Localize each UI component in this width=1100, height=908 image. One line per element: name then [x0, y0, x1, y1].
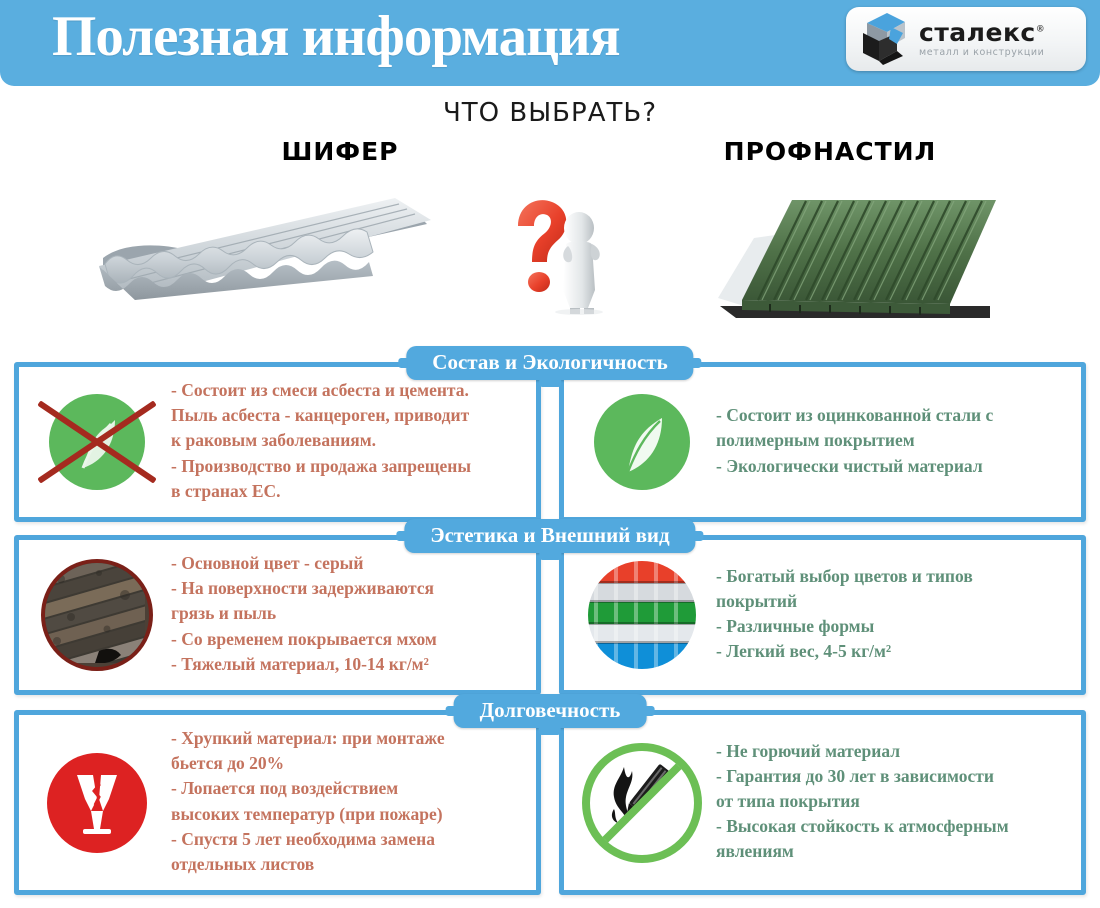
- section-title-text: Долговечность: [480, 698, 621, 722]
- section-aesthetics-appearance: Эстетика и Внешний вид: [14, 535, 1086, 695]
- card-text-profiled-composition: - Состоит из оцинкованной стали с полиме…: [710, 404, 1071, 479]
- green-profiled-metal-sheet-image: [700, 180, 1000, 325]
- bullet-line: полимерным покрытием: [716, 429, 1071, 452]
- card-profiled-aesthetics: - Богатый выбор цветов и типов покрытий …: [559, 535, 1086, 695]
- card-text-profiled-aesthetics: - Богатый выбор цветов и типов покрытий …: [710, 565, 1071, 665]
- product-label-slate: ШИФЕР: [160, 137, 520, 166]
- bullet-line: - Основной цвет - серый: [171, 552, 526, 575]
- card-profiled-durability: - Не горючий материал - Гарантия до 30 л…: [559, 710, 1086, 895]
- bullet-line: - Производство и продажа запрещены: [171, 455, 526, 478]
- card-slate-aesthetics: - Основной цвет - серый - На поверхности…: [14, 535, 541, 695]
- bullet-line: грязь и пыль: [171, 602, 526, 625]
- subtitle-question: ЧТО ВЫБРАТЬ?: [0, 98, 1100, 128]
- section-title-composition-ecology: Состав и Экологичность: [406, 346, 693, 380]
- bullet-line: - Тяжелый материал, 10-14 кг/м²: [171, 653, 526, 676]
- bullet-line: отдельных листов: [171, 853, 526, 876]
- bullet-line: - Высокая стойкость к атмосферным: [716, 815, 1071, 838]
- bullet-line: к раковым заболеваниям.: [171, 429, 526, 452]
- product-label-profiled-sheet: ПРОФНАСТИЛ: [600, 137, 1060, 166]
- bullet-line: - Гарантия до 30 лет в зависимости: [716, 765, 1071, 788]
- logo-tagline: металл и конструкции: [919, 48, 1045, 58]
- colored-roof-tiles-photo-icon: [574, 561, 710, 669]
- bullet-line: - Хрупкий материал: при монтаже: [171, 727, 526, 750]
- bullet-line: бьется до 20%: [171, 752, 526, 775]
- bullet-line: явлениям: [716, 840, 1071, 863]
- bullet-line: высоких температур (при пожаре): [171, 803, 526, 826]
- section-title-text: Состав и Экологичность: [432, 350, 667, 374]
- section-title-text: Эстетика и Внешний вид: [430, 523, 669, 547]
- pill-tab-icon: [539, 379, 561, 387]
- bullet-line: - Состоит из оцинкованной стали с: [716, 404, 1071, 427]
- bullet-line: - Со временем покрывается мхом: [171, 628, 526, 651]
- pill-tab-icon: [539, 552, 561, 560]
- registered-mark-icon: ®: [1036, 25, 1046, 35]
- mossy-slate-roof-photo-icon: [29, 559, 165, 671]
- bullet-line: - Не горючий материал: [716, 740, 1071, 763]
- card-slate-durability: - Хрупкий материал: при монтаже бьется д…: [14, 710, 541, 895]
- bullet-line: - Состоит из смеси асбеста и цемента.: [171, 379, 526, 402]
- bullet-line: Пыль асбеста - канцероген, приводит: [171, 404, 526, 427]
- bullet-line: - Спустя 5 лет необходима замена: [171, 828, 526, 851]
- card-text-profiled-durability: - Не горючий материал - Гарантия до 30 л…: [710, 740, 1071, 865]
- crossed-out-leaf-icon: [29, 394, 165, 490]
- bullet-line: - На поверхности задерживаются: [171, 577, 526, 600]
- bullet-line: - Богатый выбор цветов и типов: [716, 565, 1071, 588]
- company-logo[interactable]: сталекс® металл и конструкции: [846, 7, 1086, 71]
- bullet-line: в странах ЕС.: [171, 480, 526, 503]
- pill-tab-icon: [539, 727, 561, 735]
- section-durability: Долговечность - Хрупкий материал: при мо…: [14, 710, 1086, 895]
- section-title-durability: Долговечность: [454, 694, 647, 728]
- bullet-line: покрытий: [716, 590, 1071, 613]
- bullet-line: - Легкий вес, 4-5 кг/м²: [716, 640, 1071, 663]
- bullet-line: - Лопается под воздействием: [171, 777, 526, 800]
- logo-word-text: сталекс: [919, 18, 1036, 47]
- thinking-person-question-mark-image: [500, 190, 620, 315]
- card-text-slate-durability: - Хрупкий материал: при монтаже бьется д…: [165, 727, 526, 878]
- hexagon-cube-logo-icon: [853, 11, 915, 67]
- card-slate-composition: - Состоит из смеси асбеста и цемента. Пы…: [14, 362, 541, 522]
- section-composition-ecology: Состав и Экологичность - Состоит из с: [14, 362, 1086, 522]
- green-leaf-icon: [574, 394, 710, 490]
- bullet-line: - Различные формы: [716, 615, 1071, 638]
- no-open-fire-icon: [574, 743, 710, 863]
- card-profiled-composition: - Состоит из оцинкованной стали с полиме…: [559, 362, 1086, 522]
- page-banner: Полезная информация сталекс® металл и ко…: [0, 0, 1100, 86]
- logo-wordmark: сталекс®: [919, 20, 1045, 45]
- section-title-aesthetics-appearance: Эстетика и Внешний вид: [404, 519, 695, 553]
- page-title: Полезная информация: [52, 4, 620, 69]
- bullet-line: от типа покрытия: [716, 790, 1071, 813]
- card-text-slate-aesthetics: - Основной цвет - серый - На поверхности…: [165, 552, 526, 677]
- corrugated-slate-sheet-image: [95, 190, 440, 320]
- broken-glass-fragile-icon: [29, 753, 165, 853]
- bullet-line: - Экологически чистый материал: [716, 455, 1071, 478]
- card-text-slate-composition: - Состоит из смеси асбеста и цемента. Пы…: [165, 379, 526, 504]
